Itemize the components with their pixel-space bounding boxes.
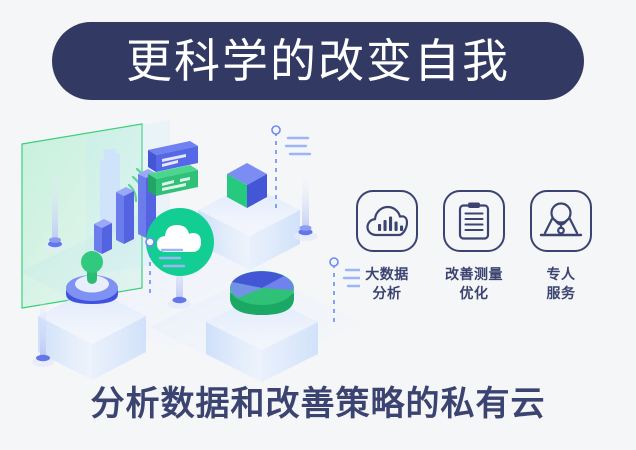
feature-label-measurement: 改善测量 优化 xyxy=(445,266,503,304)
feature-label-line2: 服务 xyxy=(547,285,576,304)
feature-icon-box xyxy=(530,190,592,252)
feature-label-big-data: 大数据 分析 xyxy=(365,266,409,304)
cloud-chart-icon xyxy=(366,204,408,238)
feature-label-service: 专人 服务 xyxy=(547,266,576,304)
page-title: 更科学的改变自我 xyxy=(126,38,510,84)
person-service-icon xyxy=(539,202,583,240)
feature-item-big-data[interactable]: 大数据 分析 xyxy=(352,190,422,304)
clipboard-icon xyxy=(457,201,491,241)
isometric-illustration xyxy=(0,112,360,382)
pie-chart-3d xyxy=(230,271,294,315)
feature-label-line2: 分析 xyxy=(365,285,409,304)
feature-item-service[interactable]: 专人 服务 xyxy=(526,190,596,304)
title-banner: 更科学的改变自我 xyxy=(52,22,584,100)
feature-item-measurement[interactable]: 改善测量 优化 xyxy=(439,190,509,304)
feature-label-line1: 大数据 xyxy=(365,266,409,285)
feature-label-line1: 专人 xyxy=(547,266,576,285)
poster-root: 更科学的改变自我 xyxy=(0,0,636,450)
feature-label-line1: 改善测量 xyxy=(445,266,503,285)
feature-list: 大数据 分析 改善测量 优化 xyxy=(352,190,596,330)
footer-tagline: 分析数据和改善策略的私有云 xyxy=(0,382,636,426)
illustration-stage xyxy=(0,112,360,382)
feature-label-line2: 优化 xyxy=(445,285,503,304)
feature-icon-box xyxy=(443,190,505,252)
feature-icon-box xyxy=(356,190,418,252)
